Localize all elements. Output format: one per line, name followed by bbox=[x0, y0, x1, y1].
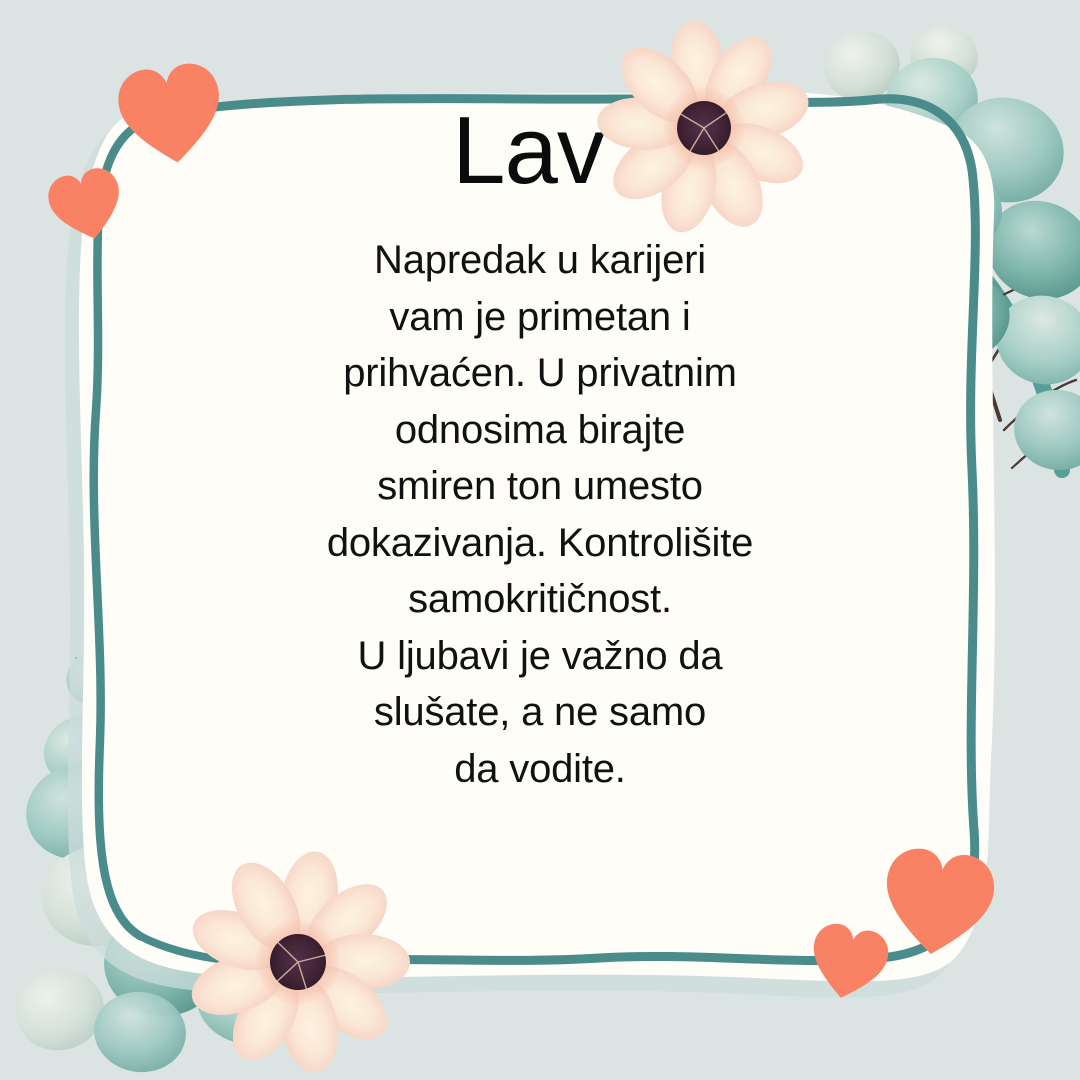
page-title: Lav bbox=[0, 103, 1068, 199]
card-content: Lav Napredak u karijeri vam je primetan … bbox=[0, 0, 1080, 1080]
horoscope-body-text: Napredak u karijeri vam je primetan i pr… bbox=[260, 232, 820, 797]
greeting-card-canvas: Lav Napredak u karijeri vam je primetan … bbox=[0, 0, 1080, 1080]
